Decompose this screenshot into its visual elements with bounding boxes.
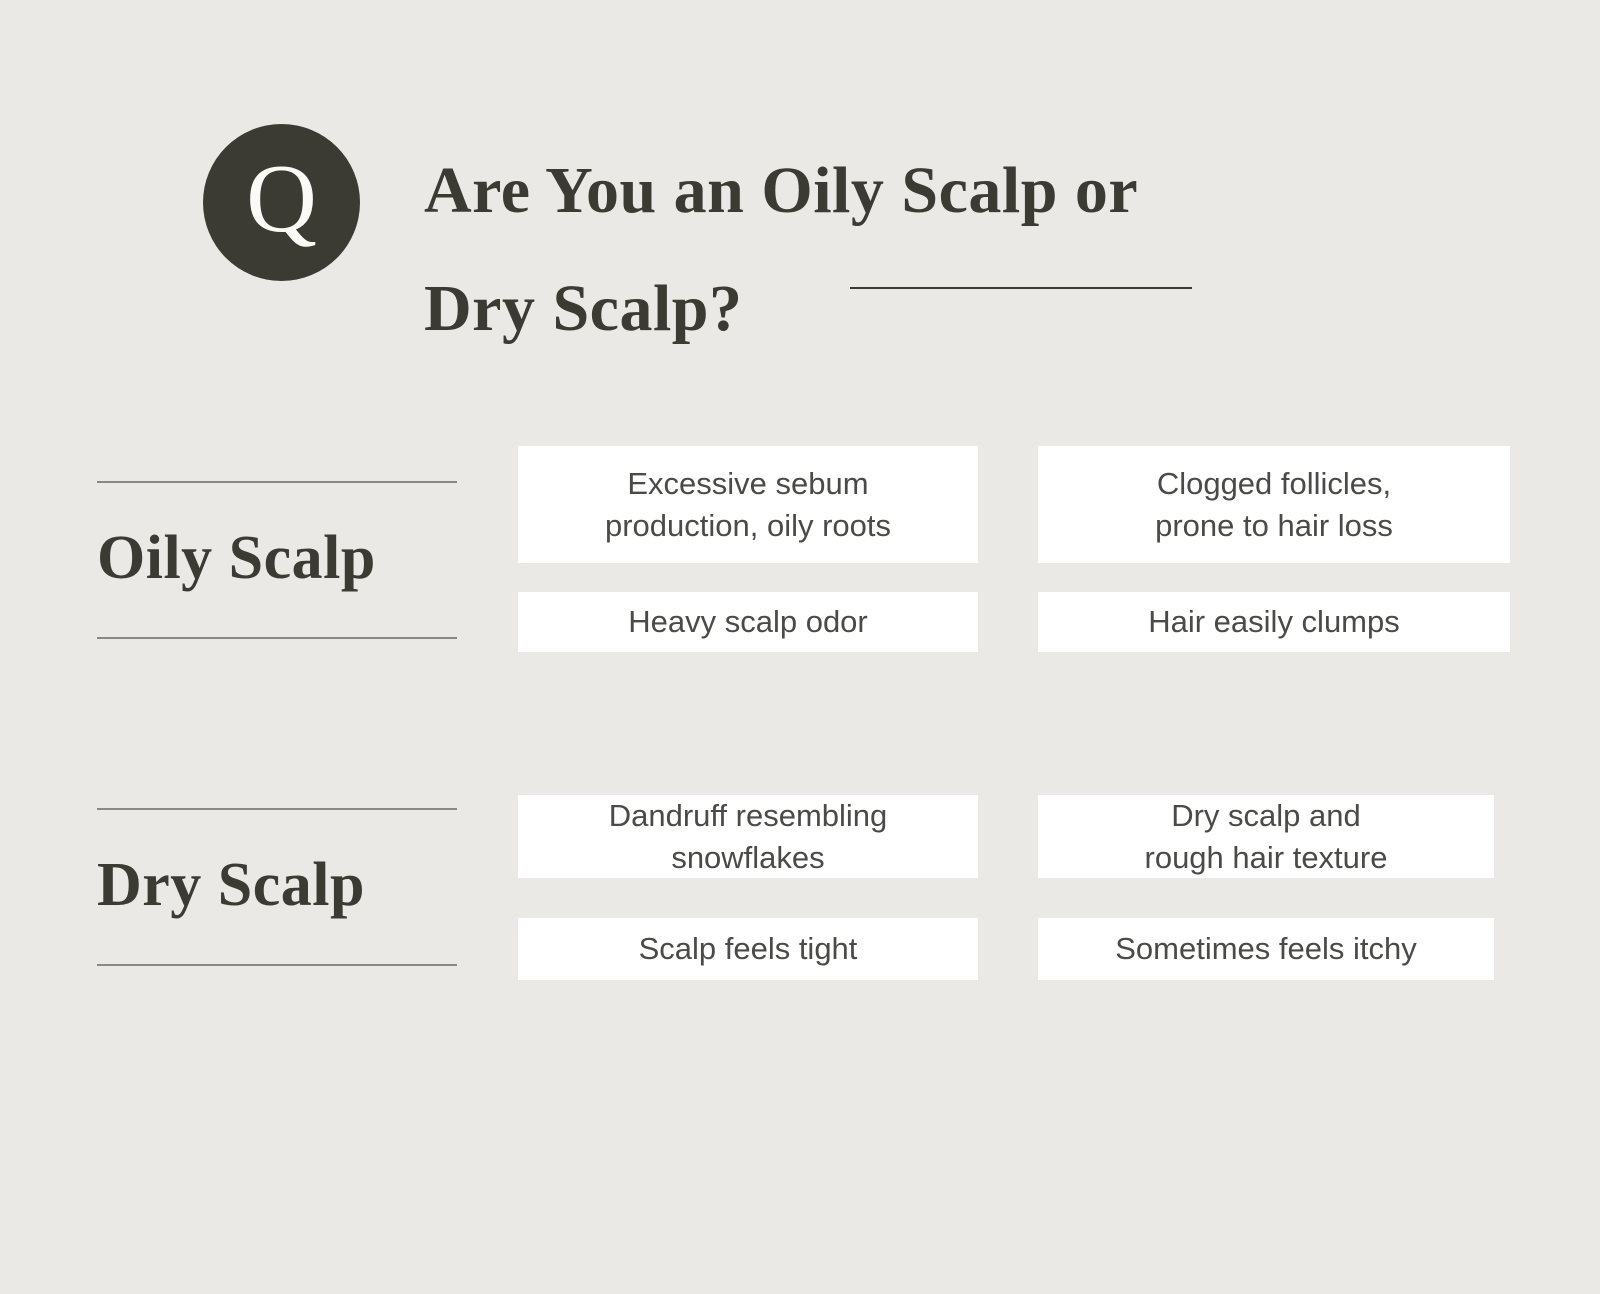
trait-card[interactable]: Heavy scalp odor <box>518 592 978 652</box>
question-badge-letter: Q <box>246 150 317 248</box>
trait-card-text: Dandruff resembling snowflakes <box>609 795 888 879</box>
trait-card-text: Hair easily clumps <box>1148 601 1400 643</box>
trait-card[interactable]: Excessive sebum production, oily roots <box>518 446 978 563</box>
trait-card-text: Excessive sebum production, oily roots <box>605 463 891 547</box>
section-dry-label-group: Dry Scalp <box>97 808 457 966</box>
trait-card-text: Scalp feels tight <box>639 928 858 970</box>
trait-card[interactable]: Sometimes feels itchy <box>1038 918 1494 980</box>
section-oily-scalp: Oily Scalp Excessive sebum production, o… <box>0 440 1600 670</box>
question-badge: Q <box>203 124 360 281</box>
section-oily-label: Oily Scalp <box>97 483 457 637</box>
trait-card[interactable]: Dry scalp and rough hair texture <box>1038 795 1494 878</box>
title-divider <box>850 287 1192 289</box>
trait-card-text: Sometimes feels itchy <box>1115 928 1417 970</box>
header: Q Are You an Oily Scalp or Dry Scalp? <box>0 0 1600 380</box>
trait-card[interactable]: Scalp feels tight <box>518 918 978 980</box>
section-label-rule-bottom <box>97 637 457 639</box>
section-dry-label: Dry Scalp <box>97 810 457 964</box>
trait-card[interactable]: Dandruff resembling snowflakes <box>518 795 978 878</box>
trait-card[interactable]: Clogged follicles, prone to hair loss <box>1038 446 1510 563</box>
trait-card-text: Dry scalp and rough hair texture <box>1145 795 1388 879</box>
section-oily-label-group: Oily Scalp <box>97 481 457 639</box>
section-dry-scalp: Dry Scalp Dandruff resembling snowflakes… <box>0 788 1600 1018</box>
page-title-line-2: Dry Scalp? <box>424 250 1214 368</box>
page-title: Are You an Oily Scalp or Dry Scalp? <box>424 132 1214 368</box>
page-title-line-1: Are You an Oily Scalp or <box>424 132 1214 250</box>
trait-card-text: Clogged follicles, prone to hair loss <box>1155 463 1393 547</box>
trait-card-text: Heavy scalp odor <box>628 601 868 643</box>
trait-card[interactable]: Hair easily clumps <box>1038 592 1510 652</box>
infographic-canvas: Q Are You an Oily Scalp or Dry Scalp? Oi… <box>0 0 1600 1294</box>
section-label-rule-bottom <box>97 964 457 966</box>
